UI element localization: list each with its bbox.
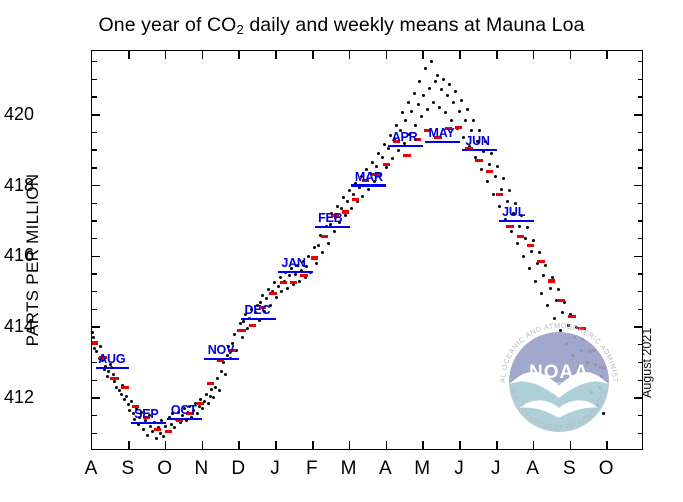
x-tick-5 [275,441,277,449]
y-minor-tick [638,415,643,416]
daily-mean-point [170,423,173,426]
x-tick-12 [533,51,535,59]
daily-mean-point [472,119,475,122]
daily-mean-point [506,200,509,203]
weekly-mean-segment [207,382,214,385]
x-tick-10 [459,51,461,59]
monthly-mean-segment [388,145,423,147]
daily-mean-point [333,230,336,233]
x-tick-9 [422,441,424,449]
y-minor-tick [92,132,97,133]
y-minor-tick [92,149,97,150]
y-minor-tick [638,149,643,150]
daily-mean-point [401,111,404,114]
y-minor-tick [92,61,97,62]
weekly-mean-segment [290,281,297,284]
monthly-mean-segment [204,358,239,360]
daily-mean-point [494,175,497,178]
daily-mean-point [413,92,416,95]
y-tick-label-414: 414 [0,317,34,335]
weekly-mean-segment [517,235,524,238]
daily-mean-point [261,294,264,297]
daily-mean-point [92,331,94,334]
daily-mean-point [428,87,431,90]
daily-mean-point [432,101,435,104]
daily-mean-point [352,193,355,196]
x-tick-6 [312,51,314,59]
x-tick-label-13: S [552,458,586,480]
daily-mean-point [327,242,330,245]
daily-mean-point [210,388,213,391]
x-tick-14 [606,51,608,59]
daily-mean-point [361,195,364,198]
weekly-mean-segment [558,299,565,302]
x-tick-label-11: J [479,458,513,480]
x-tick-13 [570,51,572,59]
daily-mean-point [532,239,535,242]
daily-mean-point [496,165,499,168]
y-minor-tick [638,273,643,274]
weekly-mean-segment [197,402,204,405]
y-minor-tick [638,61,643,62]
daily-mean-point [113,380,116,383]
daily-mean-point [383,143,386,146]
daily-mean-point [438,106,441,109]
monthly-mean-segment [96,367,129,369]
daily-mean-point [510,230,513,233]
month-label-nov: NOV [208,343,235,357]
daily-mean-point [442,78,445,81]
x-tick-9 [422,51,424,59]
y-minor-tick [638,132,643,133]
weekly-mean-segment [486,170,493,173]
daily-mean-point [239,322,242,325]
y-minor-tick [92,79,97,80]
month-label-jul: JUL [502,205,525,219]
x-tick-label-12: A [516,458,550,480]
x-tick-label-10: J [442,458,476,480]
daily-mean-point [464,119,467,122]
x-tick-2 [165,51,167,59]
daily-mean-point [490,152,493,155]
daily-mean-point [242,320,245,323]
y-minor-tick [638,96,643,97]
weekly-mean-segment [249,324,256,327]
weekly-mean-segment [121,386,128,389]
y-tick-420 [92,114,100,116]
daily-mean-point [557,288,560,291]
x-tick-11 [496,51,498,59]
weekly-mean-segment [92,341,98,344]
daily-mean-point [286,287,289,290]
weekly-mean-segment [238,329,245,332]
month-label-aug: AUG [98,352,125,366]
y-tick-label-416: 416 [0,246,34,264]
daily-mean-point [107,370,110,373]
daily-mean-point [220,370,223,373]
weekly-mean-segment [311,256,318,259]
x-tick-1 [128,441,130,449]
daily-mean-point [502,177,505,180]
daily-mean-point [377,152,380,155]
daily-mean-point [298,280,301,283]
daily-mean-point [418,80,421,83]
x-tick-label-3: N [184,458,218,480]
x-tick-label-1: S [111,458,145,480]
daily-mean-point [115,386,118,389]
daily-mean-point [207,402,210,405]
weekly-mean-segment [280,281,287,284]
daily-mean-point [120,393,123,396]
monthly-mean-segment [499,220,534,222]
daily-mean-point [288,274,291,277]
y-tick-418 [634,185,642,187]
x-tick-label-2: O [148,458,182,480]
y-minor-tick [92,362,97,363]
date-stamp: August 2021 [640,278,654,398]
daily-mean-point [280,290,283,293]
x-tick-3 [202,51,204,59]
y-tick-416 [92,256,100,258]
y-minor-tick [92,96,97,97]
y-minor-tick [92,273,97,274]
x-tick-5 [275,51,277,59]
daily-mean-point [522,255,525,258]
weekly-mean-segment [165,430,172,433]
daily-mean-point [498,205,501,208]
title-subscript: 2 [236,22,243,37]
daily-mean-point [342,196,345,199]
daily-mean-point [214,386,217,389]
daily-mean-point [410,110,413,113]
daily-mean-point [146,434,149,437]
daily-mean-point [436,74,439,77]
y-tick-label-420: 420 [0,105,34,123]
daily-mean-point [127,403,130,406]
weekly-mean-segment [269,292,276,295]
daily-mean-point [212,396,215,399]
daily-mean-point [149,425,152,428]
daily-mean-point [346,200,349,203]
daily-mean-point [344,214,347,217]
daily-mean-point [205,393,208,396]
daily-mean-point [417,103,420,106]
daily-mean-point [492,193,495,196]
daily-mean-point [128,409,131,412]
daily-mean-point [440,88,443,91]
y-tick-412 [92,397,100,399]
y-minor-tick [92,203,97,204]
month-label-sep: SEP [134,407,158,421]
y-tick-418 [92,185,100,187]
daily-mean-point [313,246,316,249]
y-tick-416 [634,256,642,258]
x-tick-label-0: A [74,458,108,480]
month-label-jun: JUN [465,134,489,148]
daily-mean-point [385,166,388,169]
daily-mean-point [530,250,533,253]
svg-text:NOAA: NOAA [529,362,589,383]
y-tick-414 [92,326,100,328]
daily-mean-point [538,251,541,254]
weekly-mean-segment [352,198,359,201]
daily-mean-point [125,395,128,398]
x-tick-7 [349,51,351,59]
weekly-mean-segment [455,126,462,129]
weekly-mean-segment [300,274,307,277]
daily-mean-point [336,205,339,208]
daily-mean-point [534,280,537,283]
daily-mean-point [452,101,455,104]
page-title: One year of CO2 daily and weekly means a… [0,14,683,37]
y-minor-tick [638,79,643,80]
x-tick-label-14: O [589,458,623,480]
x-tick-4 [238,51,240,59]
y-tick-420 [634,114,642,116]
daily-mean-point [542,274,545,277]
daily-mean-point [422,94,425,97]
daily-mean-point [414,124,417,127]
daily-mean-point [466,108,469,111]
monthly-mean-segment [315,226,350,228]
daily-mean-point [218,389,221,392]
y-minor-tick [92,415,97,416]
daily-mean-point [279,276,282,279]
daily-mean-point [246,327,249,330]
monthly-mean-segment [241,318,276,320]
x-tick-label-8: A [368,458,402,480]
daily-mean-point [375,165,378,168]
x-tick-label-6: F [295,458,329,480]
daily-mean-point [424,67,427,70]
daily-mean-point [446,94,449,97]
daily-mean-point [162,435,165,438]
daily-mean-point [549,287,552,290]
daily-mean-point [500,188,503,191]
daily-mean-point [224,373,227,376]
y-minor-tick [638,238,643,239]
daily-mean-point [142,428,145,431]
daily-mean-point [348,189,351,192]
daily-mean-point [450,119,453,122]
daily-mean-point [321,251,324,254]
daily-mean-point [92,336,95,339]
weekly-mean-segment [527,244,534,247]
month-label-apr: APR [392,130,418,144]
daily-mean-point [397,149,400,152]
daily-mean-point [201,407,204,410]
month-label-mar: MAR [355,170,383,184]
daily-mean-point [106,375,109,378]
monthly-mean-segment [425,141,460,143]
x-tick-4 [238,441,240,449]
daily-mean-point [478,129,481,132]
monthly-mean-segment [351,184,386,186]
daily-mean-point [233,333,236,336]
daily-mean-point [395,124,398,127]
daily-mean-point [448,83,451,86]
y-minor-tick [92,220,97,221]
daily-mean-point [315,262,318,265]
daily-mean-point [546,304,549,307]
daily-mean-point [540,292,543,295]
monthly-mean-segment [167,418,202,420]
x-tick-7 [349,441,351,449]
month-label-jan: JAN [281,256,305,270]
daily-mean-point [198,405,201,408]
y-minor-tick [638,203,643,204]
month-label-may: MAY [429,126,455,140]
daily-mean-point [235,349,238,352]
weekly-mean-segment [496,193,503,196]
y-minor-tick [638,220,643,221]
month-label-feb: FEB [318,211,342,225]
daily-mean-point [458,110,461,113]
daily-mean-point [123,398,126,401]
daily-mean-point [381,156,384,159]
daily-mean-point [470,129,473,132]
daily-mean-point [371,161,374,164]
weekly-mean-segment [506,225,513,228]
x-tick-10 [459,441,461,449]
daily-mean-point [426,108,429,111]
x-tick-8 [386,441,388,449]
y-minor-tick [638,433,643,434]
daily-mean-point [434,80,437,83]
daily-mean-point [164,425,167,428]
x-tick-3 [202,441,204,449]
daily-mean-point [173,426,176,429]
y-tick-label-418: 418 [0,176,34,194]
daily-mean-point [407,101,410,104]
daily-mean-point [544,264,547,267]
month-label-dec: DEC [245,303,271,317]
y-minor-tick [638,167,643,168]
weekly-mean-segment [548,279,555,282]
daily-mean-point [387,147,390,150]
y-minor-tick [92,380,97,381]
daily-mean-point [265,297,268,300]
y-minor-tick [92,167,97,168]
daily-mean-point [155,437,158,440]
noaa-logo: NOAA NATIONAL OCEANIC AND ATMOSPHERIC AD… [489,312,629,452]
weekly-mean-segment [537,260,544,263]
weekly-mean-segment [383,163,390,166]
daily-mean-point [118,389,121,392]
y-minor-tick [92,291,97,292]
daily-mean-point [367,188,370,191]
title-pre: One year of CO [98,14,236,36]
daily-mean-point [420,115,423,118]
y-minor-tick [92,238,97,239]
daily-mean-point [526,226,529,229]
daily-mean-point [241,336,244,339]
daily-mean-point [516,242,519,245]
daily-mean-point [277,285,280,288]
x-tick-8 [386,51,388,59]
daily-mean-point [508,189,511,192]
x-tick-1 [128,51,130,59]
y-minor-tick [92,433,97,434]
daily-mean-point [216,377,219,380]
weekly-mean-segment [110,377,117,380]
daily-mean-point [99,345,102,348]
daily-mean-point [209,395,212,398]
daily-mean-point [130,400,133,403]
daily-mean-point [488,163,491,166]
weekly-mean-segment [403,154,410,157]
daily-mean-point [404,119,407,122]
x-tick-label-7: M [332,458,366,480]
daily-mean-point [350,207,353,210]
daily-mean-point [524,237,527,240]
y-minor-tick [92,309,97,310]
monthly-mean-segment [462,149,497,151]
daily-mean-point [430,60,433,63]
x-tick-2 [165,441,167,449]
daily-mean-point [317,244,320,247]
x-tick-label-5: J [258,458,292,480]
daily-mean-point [159,432,162,435]
weekly-mean-segment [154,428,161,431]
daily-mean-point [444,111,447,114]
y-tick-label-412: 412 [0,388,34,406]
daily-mean-point [480,168,483,171]
daily-mean-point [460,99,463,102]
daily-mean-point [518,225,521,228]
daily-mean-point [275,296,278,299]
title-post: daily and weekly means at Mauna Loa [244,14,585,36]
daily-mean-point [454,90,457,93]
x-tick-label-9: M [405,458,439,480]
monthly-mean-segment [131,422,166,424]
monthly-mean-segment [278,271,313,273]
daily-mean-point [528,267,531,270]
daily-mean-point [391,157,394,160]
weekly-mean-segment [475,159,482,162]
daily-mean-point [273,281,276,284]
daily-mean-point [486,180,489,183]
x-tick-6 [312,441,314,449]
co2-chart: One year of CO2 daily and weekly means a… [0,0,683,502]
x-tick-label-4: D [221,458,255,480]
weekly-mean-segment [321,235,328,238]
month-label-oct: OCT [171,403,197,417]
